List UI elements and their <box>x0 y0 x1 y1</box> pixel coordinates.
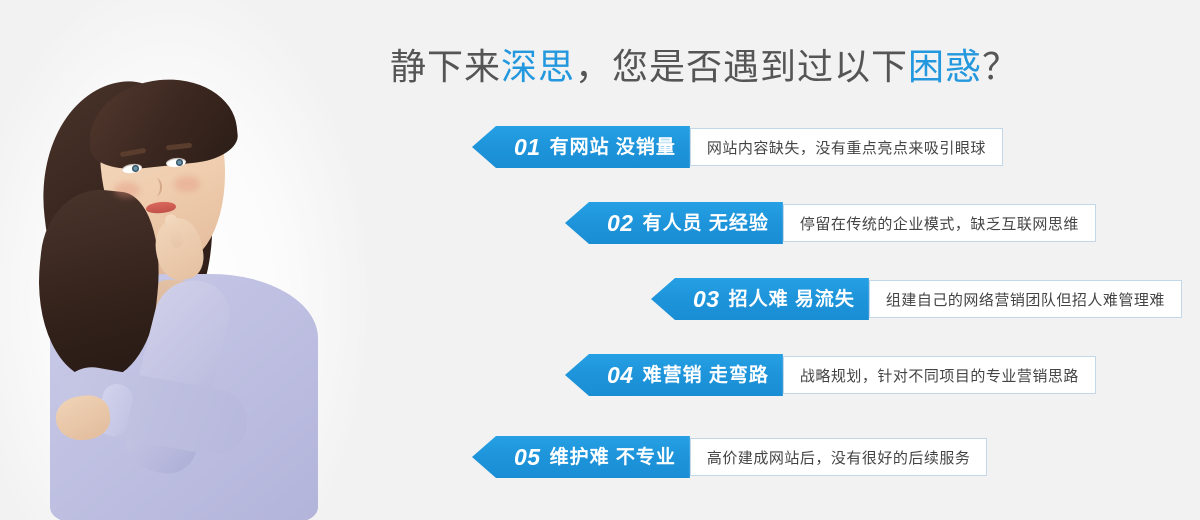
item-title: 难营销 走弯路 <box>643 366 769 385</box>
item-title: 维护难 不专业 <box>550 448 676 467</box>
item-number: 01 <box>514 136 541 159</box>
list-item[interactable]: 04 难营销 走弯路 战略规划，针对不同项目的专业营销思路 <box>565 354 1096 396</box>
list-item[interactable]: 01 有网站 没销量 网站内容缺失，没有重点亮点来吸引眼球 <box>472 126 1003 168</box>
promo-banner: 静下来深思，您是否遇到过以下困惑？ 01 有网站 没销量 网站内容缺失，没有重点… <box>0 0 1200 520</box>
list-item[interactable]: 03 招人难 易流失 组建自己的网络营销团队但招人难管理难 <box>651 278 1182 320</box>
list-item[interactable]: 05 维护难 不专业 高价建成网站后，没有很好的后续服务 <box>472 436 987 478</box>
pain-point-list: 01 有网站 没销量 网站内容缺失，没有重点亮点来吸引眼球 02 有人员 无经验… <box>0 0 1200 520</box>
item-title: 有网站 没销量 <box>550 138 676 157</box>
item-tag[interactable]: 02 有人员 无经验 <box>565 202 783 244</box>
item-tag[interactable]: 01 有网站 没销量 <box>472 126 690 168</box>
item-title: 招人难 易流失 <box>729 290 855 309</box>
item-number: 05 <box>514 446 541 469</box>
item-description: 组建自己的网络营销团队但招人难管理难 <box>869 280 1182 318</box>
item-number: 04 <box>607 364 634 387</box>
item-description: 战略规划，针对不同项目的专业营销思路 <box>783 356 1096 394</box>
item-title: 有人员 无经验 <box>643 214 769 233</box>
item-tag[interactable]: 05 维护难 不专业 <box>472 436 690 478</box>
item-tag[interactable]: 03 招人难 易流失 <box>651 278 869 320</box>
item-tag[interactable]: 04 难营销 走弯路 <box>565 354 783 396</box>
item-description: 网站内容缺失，没有重点亮点来吸引眼球 <box>690 128 1003 166</box>
item-description: 停留在传统的企业模式，缺乏互联网思维 <box>783 204 1096 242</box>
item-number: 03 <box>693 288 720 311</box>
list-item[interactable]: 02 有人员 无经验 停留在传统的企业模式，缺乏互联网思维 <box>565 202 1096 244</box>
item-description: 高价建成网站后，没有很好的后续服务 <box>690 438 988 476</box>
item-number: 02 <box>607 212 634 235</box>
